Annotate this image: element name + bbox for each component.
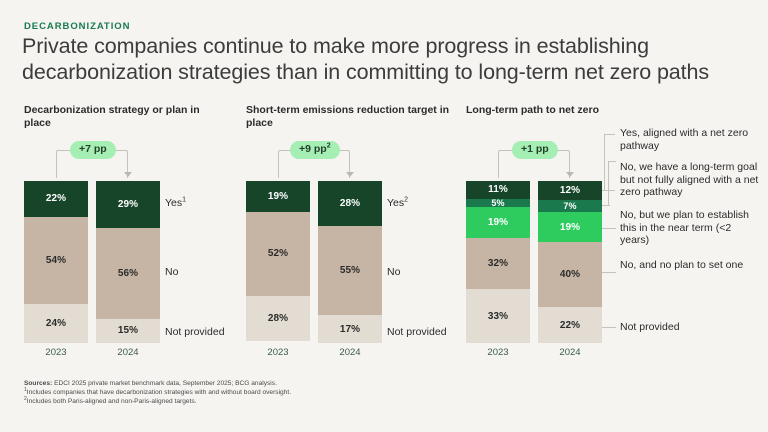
eyebrow-label: DECARBONIZATION	[24, 21, 130, 32]
bar-2024-panel-1[interactable]: 29% 56% 15%	[96, 181, 160, 343]
legend-label-no-plan: No, and no plan to set one	[620, 259, 752, 272]
bar-2023-panel-2[interactable]: 19% 52% 28%	[246, 181, 310, 341]
panel-short-term-target: Short-term emissions reduction target in…	[246, 104, 451, 130]
bar-2023-panel-1[interactable]: 22% 54% 24%	[24, 181, 88, 343]
bar-segment-long-term-goal[interactable]: 5%	[466, 199, 530, 207]
legend-label-yes-panel-1: Yes1	[165, 197, 186, 210]
bar-segment-no[interactable]: 55%	[318, 226, 382, 315]
bar-segment-no-plan[interactable]: 40%	[538, 242, 602, 307]
delta-badge-3-label: +1 pp	[521, 143, 549, 155]
footnote-sources-label: Sources:	[24, 380, 52, 387]
bar-segment-yes-aligned[interactable]: 11%	[466, 181, 530, 199]
delta-badge-2-label: +9 pp	[299, 143, 327, 155]
bar-segment-not-provided[interactable]: 33%	[466, 289, 530, 343]
bar-segment-no[interactable]: 54%	[24, 217, 88, 305]
legend-label-yes-panel-2: Yes2	[387, 197, 408, 210]
bar-segment-yes[interactable]: 28%	[318, 181, 382, 226]
legend-label-not-provided-panel-2: Not provided	[387, 326, 447, 339]
bar-2024-panel-3[interactable]: 12% 7% 19% 40% 22%	[538, 181, 602, 343]
bar-segment-not-provided[interactable]: 24%	[24, 304, 88, 343]
chart-page: DECARBONIZATION Private companies contin…	[0, 0, 768, 432]
bar-2024-panel-2[interactable]: 28% 55% 17%	[318, 181, 382, 343]
bar-segment-plan-near-term[interactable]: 19%	[538, 212, 602, 243]
x-tick-2023-panel-1: 2023	[24, 347, 88, 358]
bar-segment-not-provided[interactable]: 15%	[96, 319, 160, 343]
panel-long-term-net-zero: Long-term path to net zero	[466, 104, 686, 117]
delta-badge-3: +1 pp	[512, 141, 558, 159]
bar-segment-no-plan[interactable]: 32%	[466, 238, 530, 290]
bar-segment-long-term-goal[interactable]: 7%	[538, 200, 602, 211]
footnote-1: 1Includes companies that have decarboniz…	[24, 388, 454, 397]
x-tick-2024-panel-3: 2024	[538, 347, 602, 358]
footnote-sources: Sources: EDCI 2025 private market benchm…	[24, 379, 454, 388]
legend-label-no-panel-2: No	[387, 266, 400, 279]
legend-label-plan-near-term: No, but we plan to establish this in the…	[620, 209, 752, 247]
legend-label-yes-aligned: Yes, aligned with a net zero pathway	[620, 127, 760, 152]
bar-segment-no[interactable]: 56%	[96, 228, 160, 319]
bar-segment-yes[interactable]: 29%	[96, 181, 160, 228]
footnote-sources-text: EDCI 2025 private market benchmark data,…	[54, 380, 277, 387]
page-title: Private companies continue to make more …	[22, 33, 752, 85]
panel-1-title: Decarbonization strategy or plan in plac…	[24, 104, 224, 130]
bar-segment-yes-aligned[interactable]: 12%	[538, 181, 602, 200]
bar-2023-panel-3[interactable]: 11% 5% 19% 32% 33%	[466, 181, 530, 343]
x-tick-2023-panel-3: 2023	[466, 347, 530, 358]
delta-badge-1: +7 pp	[70, 141, 116, 159]
legend-label-not-provided-panel-3: Not provided	[620, 321, 752, 334]
bar-segment-not-provided[interactable]: 28%	[246, 296, 310, 341]
panel-2-title: Short-term emissions reduction target in…	[246, 104, 451, 130]
bar-segment-not-provided[interactable]: 17%	[318, 315, 382, 343]
bar-segment-no[interactable]: 52%	[246, 212, 310, 296]
panel-3-title: Long-term path to net zero	[466, 104, 686, 117]
x-tick-2024-panel-1: 2024	[96, 347, 160, 358]
bar-segment-yes[interactable]: 22%	[24, 181, 88, 217]
delta-badge-2: +9 pp2	[290, 141, 340, 159]
legend-label-not-provided-panel-1: Not provided	[165, 326, 225, 339]
panel-decarbonization-strategy: Decarbonization strategy or plan in plac…	[24, 104, 224, 130]
footnotes: Sources: EDCI 2025 private market benchm…	[24, 379, 454, 407]
bar-segment-yes[interactable]: 19%	[246, 181, 310, 212]
bar-segment-not-provided[interactable]: 22%	[538, 307, 602, 343]
x-tick-2023-panel-2: 2023	[246, 347, 310, 358]
delta-badge-1-label: +7 pp	[79, 143, 107, 155]
footnote-2: 2Includes both Paris-aligned and non-Par…	[24, 397, 454, 406]
x-tick-2024-panel-2: 2024	[318, 347, 382, 358]
legend-label-no-panel-1: No	[165, 266, 178, 279]
legend-label-long-term-goal: No, we have a long-term goal but not ful…	[620, 161, 765, 199]
bar-segment-plan-near-term[interactable]: 19%	[466, 207, 530, 238]
